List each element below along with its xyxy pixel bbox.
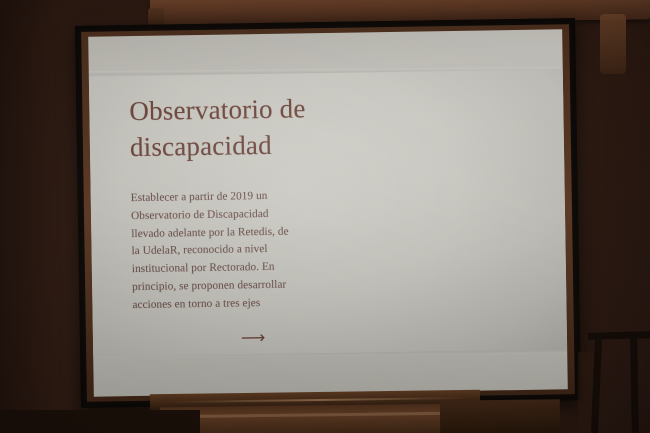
slide-arrow-row: ⟶	[241, 325, 537, 348]
slide-body-line-7: acciones en torno a tres ejes	[132, 294, 332, 315]
photo-scene: Observatorio de discapacidad Establecer …	[0, 0, 650, 433]
right-arrow-icon: ⟶	[241, 330, 266, 347]
slide-body-text: Establecer a partir de 2019 un Observato…	[131, 187, 333, 315]
foreground-shadow	[0, 410, 200, 433]
projected-slide: Observatorio de discapacidad Establecer …	[89, 69, 567, 356]
slide-content: Observatorio de discapacidad Establecer …	[129, 88, 537, 346]
podium	[440, 399, 560, 433]
roller-end-cap-right	[600, 14, 626, 74]
screen-surface: Observatorio de discapacidad Establecer …	[88, 29, 568, 396]
projection-screen: Observatorio de discapacidad Establecer …	[75, 18, 581, 408]
slide-title: Observatorio de discapacidad	[129, 90, 360, 165]
slide-title-line-2: discapacidad	[130, 130, 272, 162]
slide-title-line-1: Observatorio de	[129, 93, 306, 126]
